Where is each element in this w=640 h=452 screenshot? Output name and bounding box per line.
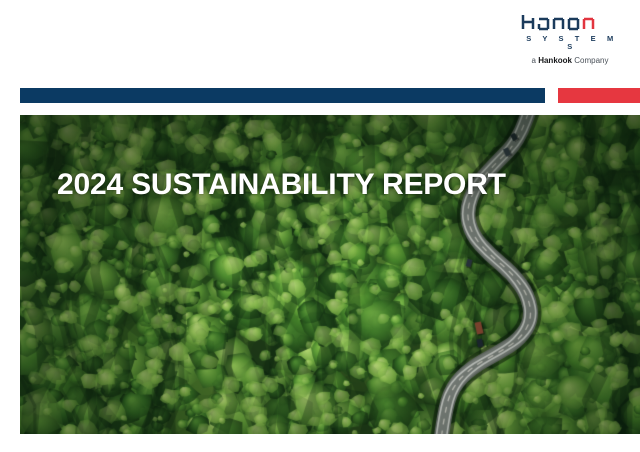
tagline-suffix: Company — [574, 56, 608, 65]
forest-aerial-image — [20, 115, 640, 434]
cover-title: 2024 SUSTAINABILITY REPORT — [57, 170, 506, 200]
company-logo: S Y S T E M S a Hankook Company — [516, 12, 624, 65]
logo-systems-text: S Y S T E M S — [516, 35, 624, 50]
hanon-wordmark-icon — [520, 12, 620, 32]
header-rule-row — [0, 88, 640, 103]
cover-photo — [20, 115, 640, 434]
tagline-prefix: a — [532, 56, 536, 65]
logo-tagline: a Hankook Company — [516, 57, 624, 65]
header-rule-red — [558, 88, 640, 103]
header-rule-navy — [20, 88, 545, 103]
tagline-brand: Hankook — [538, 56, 572, 65]
